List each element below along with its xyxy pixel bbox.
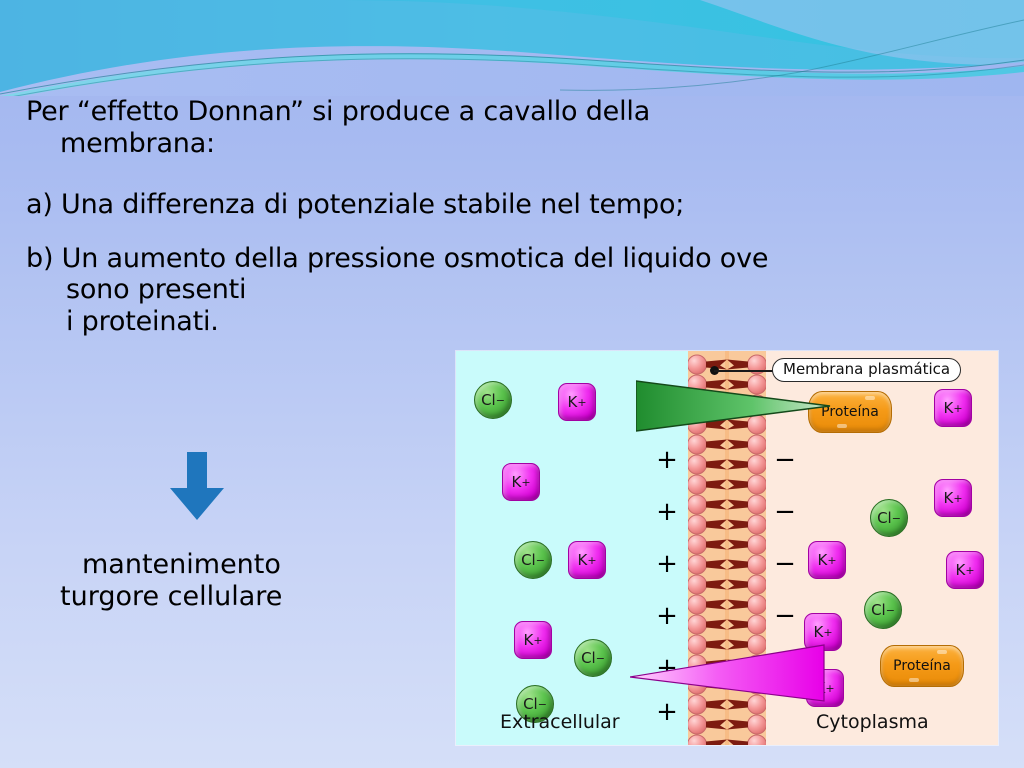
- point-b-line-2: sono presenti: [26, 274, 666, 306]
- decorative-banner: [0, 0, 1024, 96]
- charge-positive: +: [656, 551, 678, 577]
- potassium-ion: K+: [514, 621, 552, 659]
- paragraph-b: b) Un aumento della pressione osmotica d…: [26, 243, 666, 338]
- chloride-ion: Cl−: [514, 541, 552, 579]
- potassium-ion: K+: [934, 479, 972, 517]
- charge-negative: −: [774, 499, 796, 525]
- down-arrow-shape: [170, 452, 224, 520]
- charge-positive: +: [656, 603, 678, 629]
- spacer: [26, 221, 666, 243]
- membrane-callout-label: Membrana plasmática: [772, 358, 961, 382]
- paragraph-intro: Per “effetto Donnan” si produce a cavall…: [26, 96, 666, 159]
- point-b-line-3: i proteinati.: [26, 306, 666, 338]
- callout-leader-line: [714, 370, 774, 372]
- intro-line-1: Per “effetto Donnan” si produce a cavall…: [26, 96, 666, 128]
- potassium-ion: K+: [502, 463, 540, 501]
- spacer: [26, 159, 666, 189]
- chloride-ion: Cl−: [870, 499, 908, 537]
- chloride-ion: Cl−: [474, 381, 512, 419]
- charge-negative: −: [774, 603, 796, 629]
- banner-waves-icon: [0, 0, 1024, 96]
- point-b-line-1: b) Un aumento della pressione osmotica d…: [26, 243, 666, 275]
- potassium-ion: K+: [946, 551, 984, 589]
- potassium-ion: K+: [808, 541, 846, 579]
- conclusion-caption: mantenimento turgore cellulare: [82, 549, 502, 613]
- charge-positive: +: [656, 499, 678, 525]
- charge-negative: −: [774, 551, 796, 577]
- paragraph-a: a) Una differenza di potenziale stabile …: [26, 189, 666, 221]
- magenta-gradient-arrow: [630, 643, 826, 703]
- down-arrow-icon: [166, 452, 228, 522]
- potassium-ion: K+: [568, 541, 606, 579]
- protein-molecule: Proteína: [880, 645, 964, 687]
- slide-body-text: Per “effetto Donnan” si produce a cavall…: [26, 96, 666, 337]
- conclusion-line-1: mantenimento: [82, 549, 502, 581]
- chloride-ion: Cl−: [574, 639, 612, 677]
- membrane-diagram-figure: ++++++ −−−−−− Cl−K+K+Cl−K+Cl−K+Cl− K+K+C…: [456, 351, 998, 745]
- extracellular-label: Extracellular: [500, 711, 620, 733]
- charge-positive: +: [656, 447, 678, 473]
- charge-negative: −: [774, 447, 796, 473]
- chloride-ion: Cl−: [864, 591, 902, 629]
- cytoplasm-label: Cytoplasma: [816, 711, 929, 733]
- green-gradient-arrow: [636, 379, 832, 433]
- intro-line-2: membrana:: [26, 128, 666, 160]
- point-a-line: a) Una differenza di potenziale stabile …: [26, 189, 666, 221]
- potassium-ion: K+: [934, 389, 972, 427]
- potassium-ion: K+: [558, 383, 596, 421]
- conclusion-line-2: turgore cellulare: [60, 581, 502, 613]
